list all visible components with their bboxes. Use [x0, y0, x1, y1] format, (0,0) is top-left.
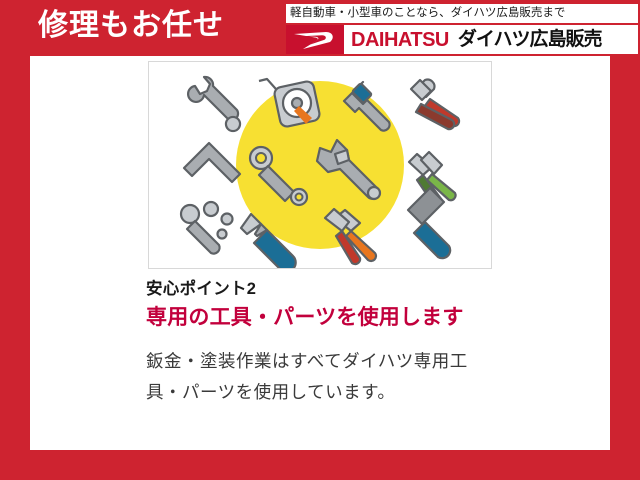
mallet-icon [408, 188, 450, 258]
tagline-container: 軽自動車・小型車のことなら、ダイハツ広島販売まで [286, 4, 638, 23]
red-pliers-icon [411, 80, 459, 130]
point-body-text: 鈑金・塗装作業はすべてダイハツ専用工具・パーツを使用しています。 [146, 346, 498, 408]
content-card: 安心ポイント2 専用の工具・パーツを使用します 鈑金・塗装作業はすべてダイハツ専… [30, 56, 610, 450]
daihatsu-d-emblem-icon [286, 25, 344, 54]
brand-tagline: 軽自動車・小型車のことなら、ダイハツ広島販売まで [290, 7, 565, 20]
brand-block: 軽自動車・小型車のことなら、ダイハツ広島販売まで DAIHATSU ダイハツ広島… [286, 4, 638, 54]
page-title: 修理もお任せ [38, 7, 224, 45]
tools-illustration [148, 61, 492, 269]
point-headline: 専用の工具・パーツを使用します [146, 305, 506, 330]
header-bar: 修理もお任せ 軽自動車・小型車のことなら、ダイハツ広島販売まで DAIHATSU… [0, 0, 640, 56]
socket-wrench-icon [181, 202, 233, 254]
logo-container: DAIHATSU ダイハツ広島販売 [286, 25, 638, 54]
logo-latin-text: DAIHATSU [351, 30, 449, 50]
text-block: 安心ポイント2 専用の工具・パーツを使用します 鈑金・塗装作業はすべてダイハツ専… [146, 278, 546, 408]
open-end-wrench-icon [188, 77, 240, 131]
logo-japanese-text: ダイハツ広島販売 [458, 30, 602, 50]
poster-root: 修理もお任せ 軽自動車・小型車のことなら、ダイハツ広島販売まで DAIHATSU… [0, 0, 640, 480]
point-label: 安心ポイント2 [146, 278, 546, 300]
hex-key-icon [184, 143, 240, 182]
